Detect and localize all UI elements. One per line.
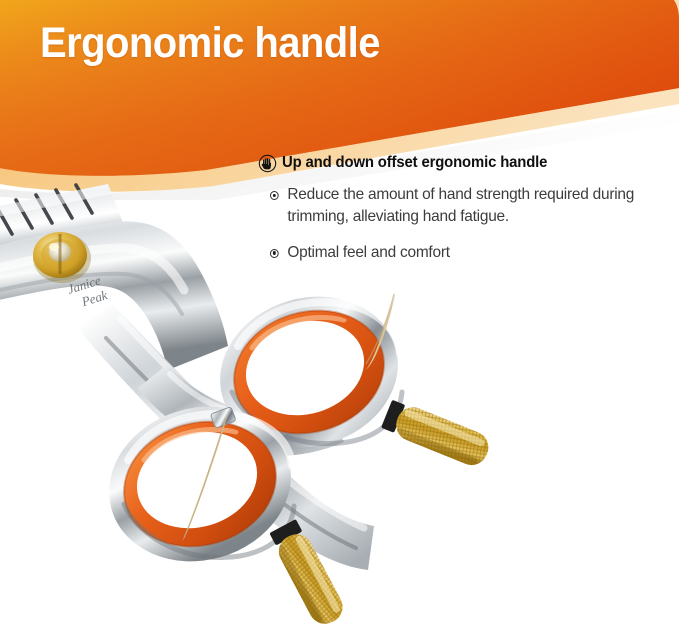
page-title: Ergonomic handle	[40, 18, 561, 69]
bullet-text: Optimal feel and comfort	[287, 242, 658, 264]
raised-hand-icon	[258, 154, 277, 173]
feature-bullet-list: Reduce the amount of hand strength requi…	[258, 184, 672, 264]
bullet-text: Reduce the amount of hand strength requi…	[287, 184, 658, 229]
feature-copy-block: Up and down offset ergonomic handle Redu…	[258, 153, 672, 264]
finger-rest-upper	[380, 398, 493, 470]
banner-body	[0, 0, 679, 176]
feature-heading-text: Up and down offset ergonomic handle	[282, 153, 547, 172]
list-item: Reduce the amount of hand strength requi…	[270, 184, 658, 229]
feature-heading: Up and down offset ergonomic handle	[258, 153, 672, 173]
product-feature-infographic: Ergonomic handle	[0, 0, 679, 637]
bullet-dot-icon	[270, 191, 279, 200]
banner-body-highlight	[0, 0, 679, 176]
bullet-dot-icon	[270, 249, 279, 258]
list-item: Optimal feel and comfort	[270, 242, 658, 264]
